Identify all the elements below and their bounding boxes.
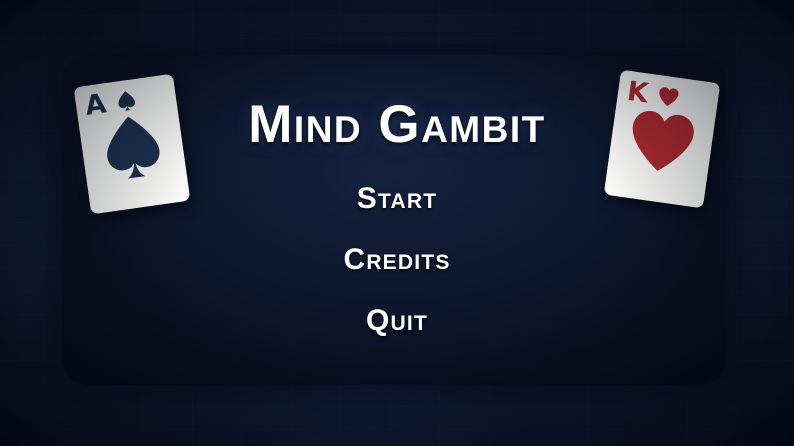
game-main-menu-screen: A K Mind Gambit Start Credits Quit bbox=[0, 0, 794, 446]
screen-vignette bbox=[0, 0, 794, 446]
